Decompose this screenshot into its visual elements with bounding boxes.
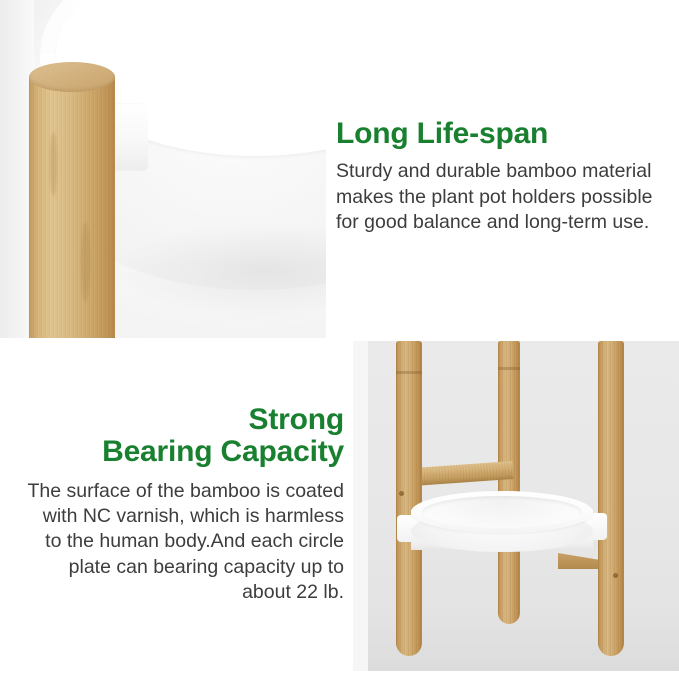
bamboo-leg-closeup-photo xyxy=(0,0,326,338)
bamboo-leg-post xyxy=(29,62,115,338)
white-round-tray xyxy=(411,491,593,569)
feature-headline-strong-bearing-capacity: Strong Bearing Capacity xyxy=(0,404,344,469)
body-line: plate can bearing capacity up to xyxy=(0,555,344,580)
photo-left-margin xyxy=(353,341,368,671)
bamboo-grain-streak xyxy=(81,222,90,302)
assembly-screw xyxy=(399,491,404,496)
body-line: Sturdy and durable bamboo material xyxy=(336,159,666,184)
tray-inner-basin xyxy=(422,496,582,528)
bamboo-grain-texture xyxy=(498,341,520,624)
bamboo-grain-texture xyxy=(598,341,624,656)
body-line: The surface of the bamboo is coated xyxy=(0,479,344,504)
feature-body-strong-bearing-capacity: The surface of the bamboo is coated with… xyxy=(0,479,344,606)
feature-strong-bearing-capacity: Strong Bearing Capacity The surface of t… xyxy=(0,404,346,606)
headline-line: Bearing Capacity xyxy=(0,436,344,468)
bamboo-leg-middle xyxy=(498,341,520,624)
feature-headline-long-life-span: Long Life-span xyxy=(336,118,666,150)
body-line: about 22 lb. xyxy=(0,580,344,605)
headline-line: Strong xyxy=(0,404,344,436)
feature-long-life-span: Long Life-span Sturdy and durable bamboo… xyxy=(336,118,666,235)
feature-body-long-life-span: Sturdy and durable bamboo material makes… xyxy=(336,159,666,235)
bamboo-leg-top-cap xyxy=(29,62,115,92)
bamboo-node-ring xyxy=(396,371,422,374)
infographic-canvas: Long Life-span Sturdy and durable bamboo… xyxy=(0,0,679,679)
bamboo-plant-stand-photo xyxy=(353,341,679,671)
assembly-screw xyxy=(613,573,618,578)
bamboo-node-ring xyxy=(498,367,520,370)
bamboo-grain-streak xyxy=(50,132,57,196)
body-line: for good balance and long-term use. xyxy=(336,210,666,235)
body-line: makes the plant pot holders possible xyxy=(336,185,666,210)
body-line: to the human body.And each circle xyxy=(0,529,344,554)
body-line: with NC varnish, which is harmless xyxy=(0,504,344,529)
bamboo-leg-right xyxy=(598,341,624,656)
bamboo-grain-texture xyxy=(29,76,115,338)
